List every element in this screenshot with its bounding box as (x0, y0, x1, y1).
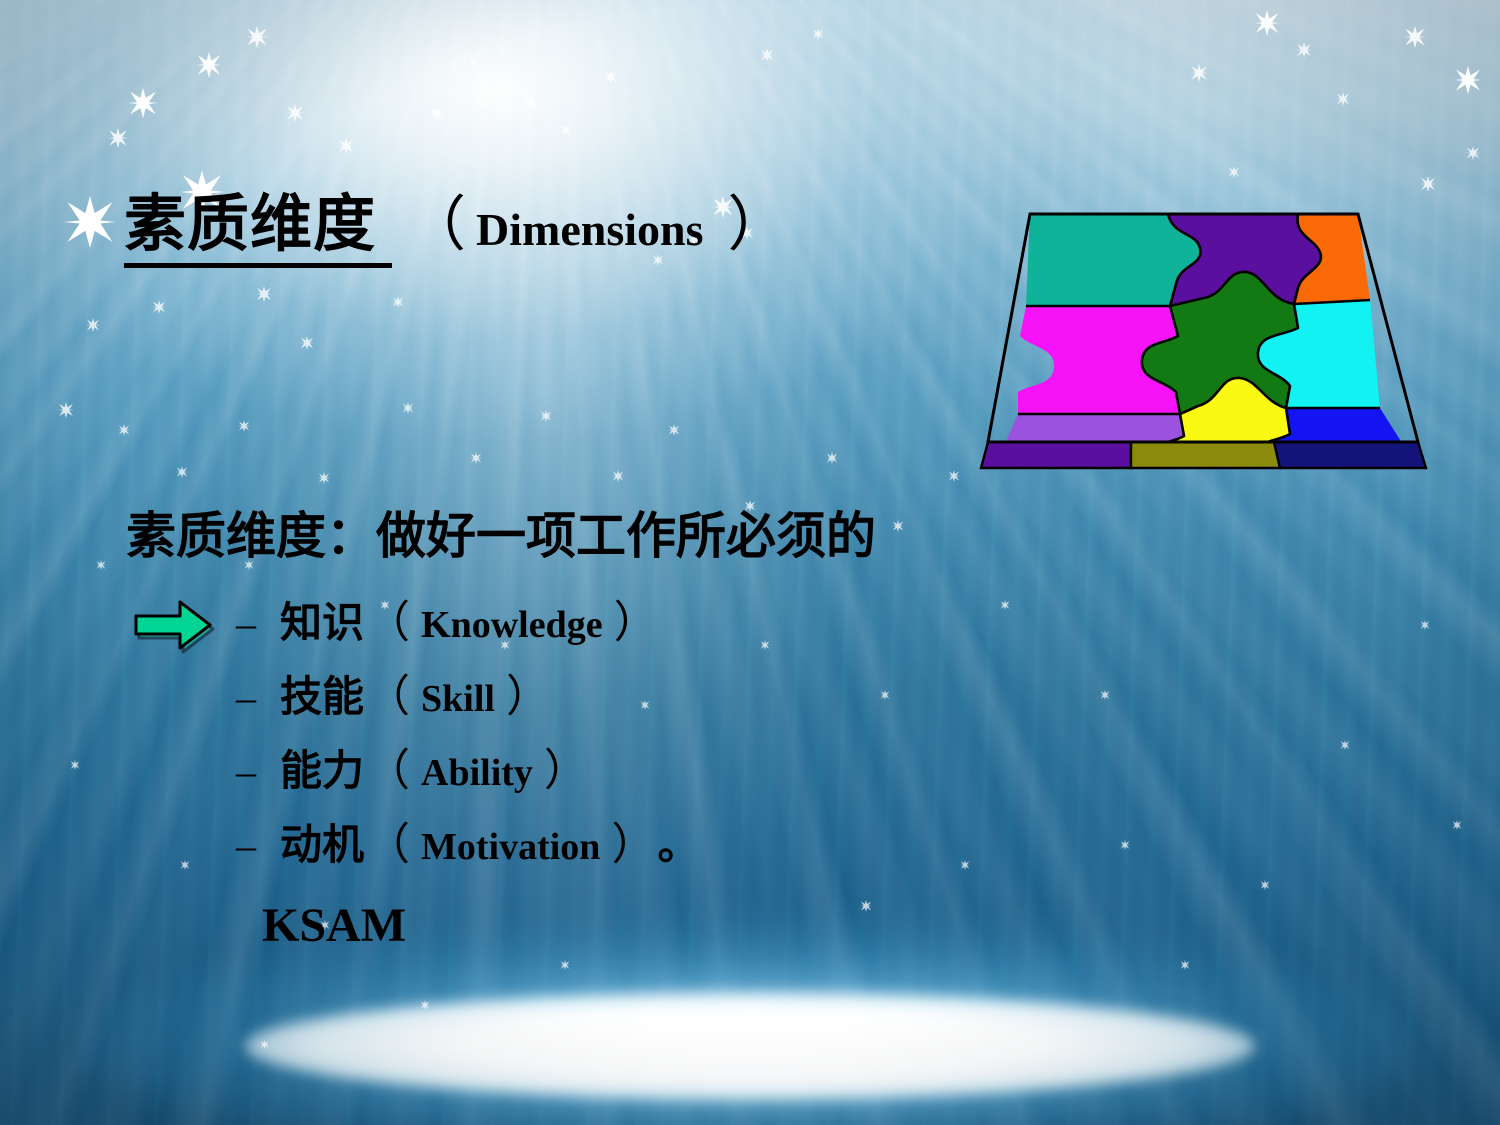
bullet-cn: 技能 (280, 663, 364, 724)
page-title-open-paren: （ (392, 192, 466, 258)
bullet-open: （ (364, 808, 412, 872)
jigsaw-puzzle-graphic (968, 196, 1428, 476)
bullet-cn: 知识 (280, 589, 364, 650)
acronym-label: KSAM (262, 898, 406, 953)
bullet-open: （ (364, 586, 412, 650)
bullet-close: ） (612, 586, 660, 650)
bullet-dash: – (236, 822, 280, 869)
page-title-close-paren: ） (714, 192, 788, 258)
bullet-close: ） (504, 660, 552, 724)
page-title: 素质维度（Dimensions） (124, 194, 788, 256)
bullet-cn: 能力 (280, 737, 364, 798)
bullet-list: –知识（Knowledge）–技能（Skill）–能力（Ability）–动机（… (236, 586, 1136, 882)
bullet-dash: – (236, 600, 280, 647)
bullet-en: Motivation (412, 825, 609, 869)
list-item: –能力（Ability） (236, 734, 1136, 808)
bullet-en: Knowledge (412, 603, 612, 647)
bullet-open: （ (364, 660, 412, 724)
list-item: –动机（Motivation）。 (236, 808, 1136, 882)
green-arrow-icon (130, 596, 216, 654)
lead-heading: 素质维度：做好一项工作所必须的 (126, 496, 876, 568)
puzzle-edge-center (1131, 442, 1280, 468)
presentation-slide: 素质维度（Dimensions） (0, 0, 1500, 1125)
bullet-close: ） (542, 734, 590, 798)
puzzle-edge-right (1274, 442, 1426, 468)
puzzle-edge-left (981, 442, 1131, 468)
puzzle-board-face (990, 214, 1424, 476)
bullet-open: （ (364, 734, 412, 798)
list-item: –技能（Skill） (236, 660, 1136, 734)
bullet-dash: – (236, 748, 280, 795)
list-item: –知识（Knowledge） (236, 586, 1136, 660)
bullet-dash: – (236, 674, 280, 721)
bullet-close: ） (609, 808, 657, 872)
bullet-cn: 动机 (280, 811, 364, 872)
page-title-chinese: 素质维度 (124, 190, 392, 268)
bullet-period: 。 (657, 811, 699, 872)
bullet-en: Skill (412, 677, 504, 721)
page-title-english: Dimensions (466, 204, 713, 255)
bullet-en: Ability (412, 751, 542, 795)
